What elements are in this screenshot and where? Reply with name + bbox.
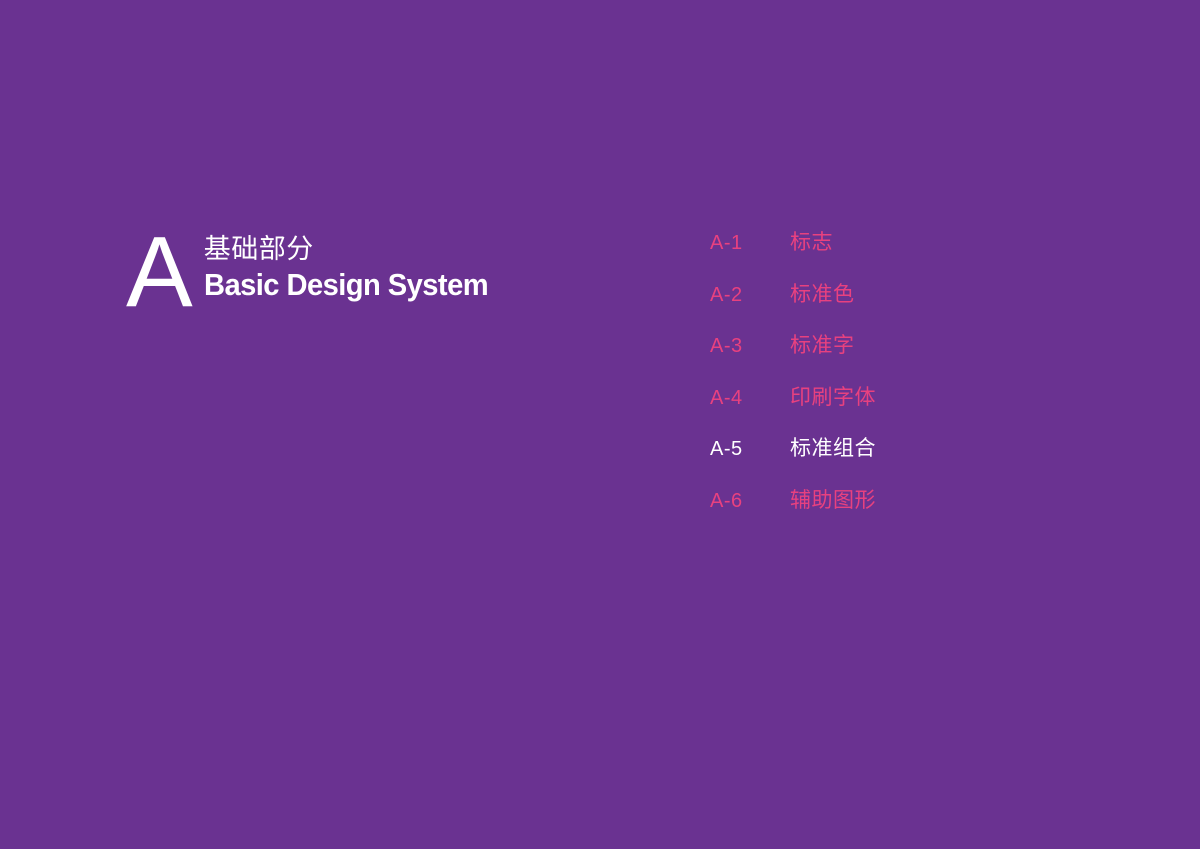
section-mark: A 基础部分 Basic Design System [126,228,506,314]
section-title-english: Basic Design System [204,268,488,302]
contents-code-a6: A-6 [710,490,790,513]
contents-row-a4[interactable]: A-4 印刷字体 [710,381,1010,433]
contents-row-a1[interactable]: A-1 标志 [710,226,1010,278]
contents-code-a1: A-1 [710,232,790,255]
contents-label-a5: 标准组合 [790,432,876,462]
contents-row-a2[interactable]: A-2 标准色 [710,278,1010,330]
section-title-chinese: 基础部分 [204,234,506,265]
contents-row-a5[interactable]: A-5 标准组合 [710,432,1010,484]
contents-row-a6[interactable]: A-6 辅助图形 [710,484,1010,536]
contents-label-a4: 印刷字体 [790,381,876,411]
contents-label-a3: 标准字 [790,329,855,359]
section-letter: A [126,230,192,314]
page-background: A 基础部分 Basic Design System A-1 标志 A-2 标准… [0,0,1200,849]
contents-code-a4: A-4 [710,387,790,410]
contents-label-a2: 标准色 [790,278,855,308]
contents-label-a6: 辅助图形 [790,484,876,514]
contents-code-a5: A-5 [710,438,790,461]
contents-list: A-1 标志 A-2 标准色 A-3 标准字 A-4 印刷字体 A-5 标准组合… [710,226,1010,535]
section-title-group: 基础部分 Basic Design System [204,228,506,302]
contents-code-a3: A-3 [710,335,790,358]
contents-code-a2: A-2 [710,284,790,307]
contents-label-a1: 标志 [790,226,833,256]
contents-row-a3[interactable]: A-3 标准字 [710,329,1010,381]
